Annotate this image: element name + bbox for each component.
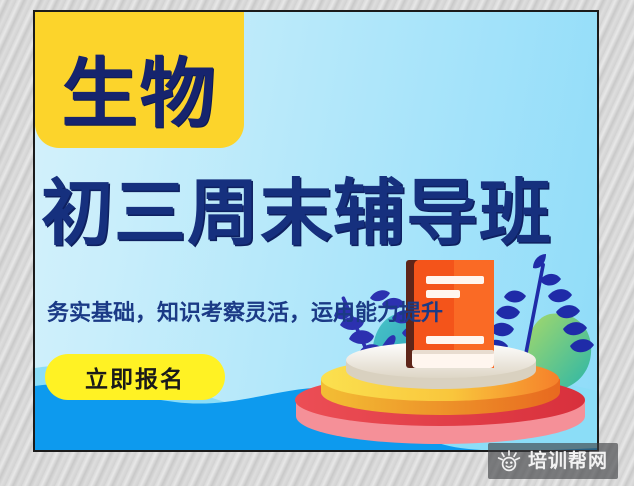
banner-frame: 生物 初三周末辅导班 务实基础，知识考察灵活，运用能力提升 立即报名 <box>33 10 599 452</box>
course-promo-banner: 生物 初三周末辅导班 务实基础，知识考察灵活，运用能力提升 立即报名 <box>35 12 597 450</box>
banner-subtitle: 务实基础，知识考察灵活，运用能力提升 <box>47 295 443 327</box>
subject-badge: 生物 <box>35 12 244 148</box>
site-watermark: 培训帮网 <box>488 443 618 479</box>
enroll-now-label: 立即报名 <box>85 360 185 394</box>
screenshot-canvas: 生物 初三周末辅导班 务实基础，知识考察灵活，运用能力提升 立即报名 <box>0 0 634 486</box>
book-podium-illustration <box>278 252 597 450</box>
banner-headline: 初三周末辅导班 <box>41 177 597 249</box>
watermark-label: 培训帮网 <box>528 452 608 471</box>
sun-smiley-icon <box>497 450 521 472</box>
subject-badge-label: 生物 <box>62 56 218 132</box>
enroll-now-button[interactable]: 立即报名 <box>45 354 225 400</box>
